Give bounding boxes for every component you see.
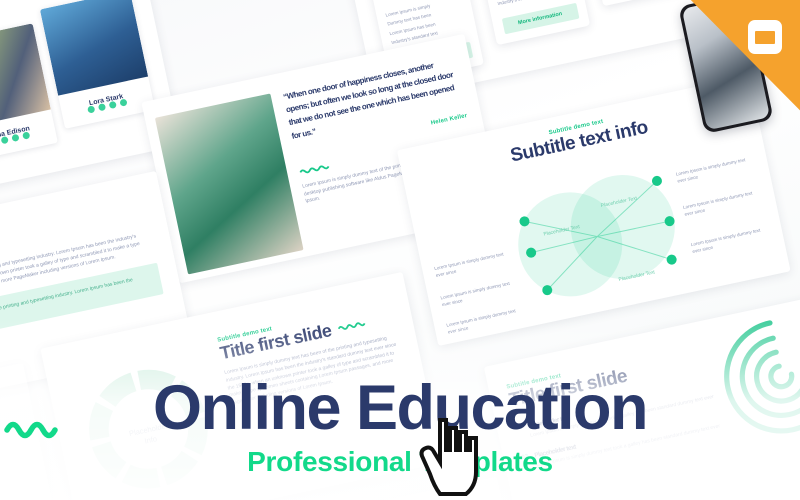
course-card[interactable]: 💬 Description Course Lorem Ipsum is simp… [469, 0, 590, 45]
corner-badge [670, 0, 800, 120]
instagram-icon[interactable] [11, 134, 19, 142]
pointing-hand-cursor-icon [418, 414, 484, 500]
linkedin-icon[interactable] [119, 98, 127, 106]
quote-photo [155, 93, 304, 274]
linkedin-icon[interactable] [22, 131, 30, 139]
orange-triangle [670, 0, 800, 120]
wave-squiggle-icon [4, 416, 66, 442]
promo-canvas: Subtitle demo text Our teachers Max Free… [0, 0, 800, 500]
page-title: Online Education [0, 377, 800, 440]
wave-squiggle-icon [299, 161, 336, 175]
page-subtitle: Professional Templates [0, 446, 800, 478]
facebook-icon[interactable] [87, 105, 95, 113]
instagram-icon[interactable] [109, 101, 117, 109]
teacher-photo [40, 0, 148, 95]
twitter-icon[interactable] [98, 103, 106, 111]
twitter-icon[interactable] [1, 136, 9, 144]
quote-text: “When one door of happiness closes, anot… [282, 54, 465, 142]
presentation-slide-icon [748, 20, 782, 54]
headline-block: Online Education Professional Templates [0, 377, 800, 478]
wave-squiggle-icon [0, 238, 4, 254]
